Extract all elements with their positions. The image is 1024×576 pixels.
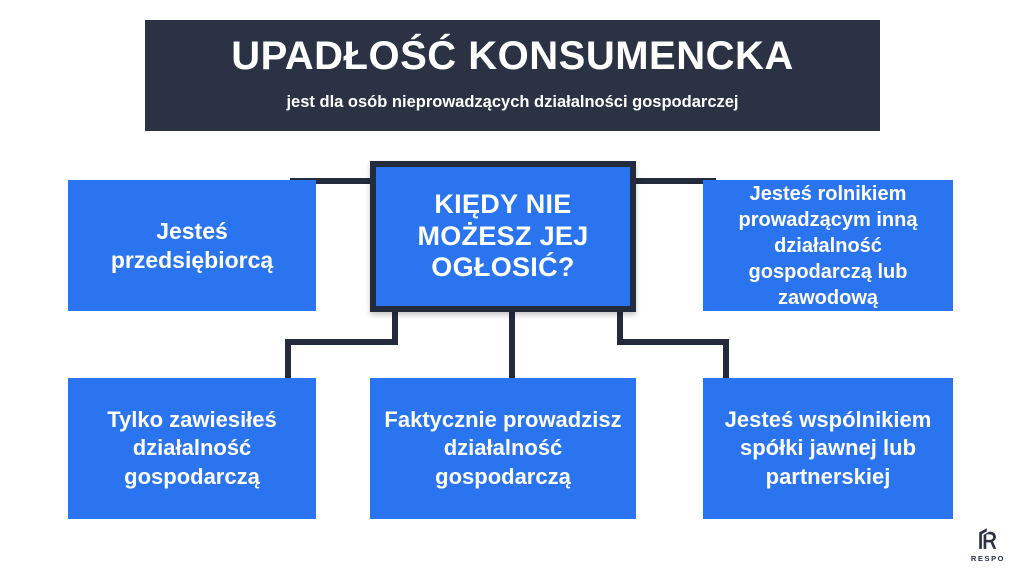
node-farmer: Jesteś rolnikiem prowadzącym inną działa… bbox=[703, 180, 953, 311]
page-title: UPADŁOŚĆ KONSUMENCKA bbox=[231, 35, 794, 77]
node-suspended-activity: Tylko zawiesiłeś działalność gospodarczą bbox=[68, 378, 316, 519]
node-actually-running-activity: Faktycznie prowadzisz działalność gospod… bbox=[370, 378, 636, 519]
node-actually-running-activity-label: Faktycznie prowadzisz działalność gospod… bbox=[380, 406, 626, 490]
node-entrepreneur-label: Jesteś przedsiębiorcą bbox=[78, 217, 306, 273]
node-central-question-label: KIĘDY NIE MOŻESZ JEJ OGŁOSIĆ? bbox=[386, 189, 620, 285]
page-subtitle: jest dla osób nieprowadzących działalnoś… bbox=[286, 93, 738, 113]
node-entrepreneur: Jesteś przedsiębiorcą bbox=[68, 180, 316, 311]
header-banner: UPADŁOŚĆ KONSUMENCKA jest dla osób niepr… bbox=[145, 20, 880, 131]
brand-logo: RESPO bbox=[963, 527, 1013, 569]
node-farmer-label: Jesteś rolnikiem prowadzącym inną działa… bbox=[713, 181, 943, 311]
connector-bottom-left bbox=[288, 312, 395, 380]
node-central-question: KIĘDY NIE MOŻESZ JEJ OGŁOSIĆ? bbox=[370, 161, 636, 312]
node-suspended-activity-label: Tylko zawiesiłeś działalność gospodarczą bbox=[78, 406, 306, 490]
connector-bottom-right bbox=[620, 312, 726, 380]
brand-wordmark: RESPO bbox=[971, 555, 1005, 563]
node-partner-company-label: Jesteś wspólnikiem spółki jawnej lub par… bbox=[713, 406, 943, 490]
respo-r-monogram-icon bbox=[976, 527, 1000, 552]
infographic-canvas: UPADŁOŚĆ KONSUMENCKA jest dla osób niepr… bbox=[0, 0, 1024, 576]
node-partner-company: Jesteś wspólnikiem spółki jawnej lub par… bbox=[703, 378, 953, 519]
